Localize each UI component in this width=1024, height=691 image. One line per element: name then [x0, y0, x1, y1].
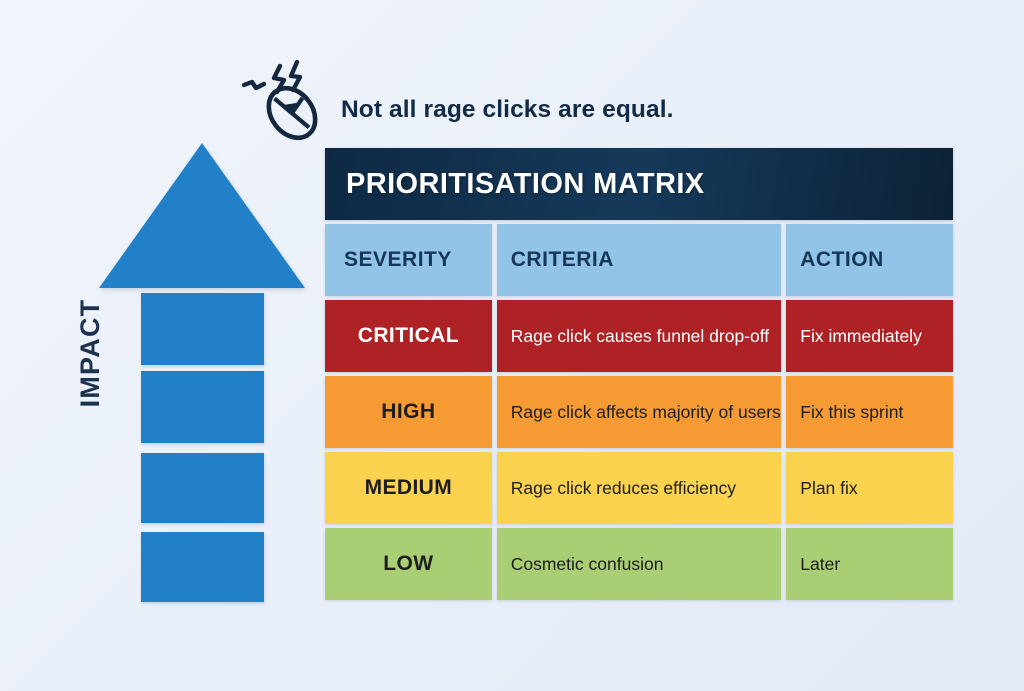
column-header-severity: SEVERITY [325, 224, 492, 296]
severity-label: MEDIUM [325, 452, 492, 524]
prioritisation-matrix: PRIORITISATION MATRIX SEVERITY CRITERIA … [325, 148, 953, 600]
action-text: Fix this sprint [786, 376, 953, 448]
criteria-text: Rage click reduces efficiency [497, 452, 782, 524]
infographic-canvas: Not all rage clicks are equal. IMPACT PR… [0, 0, 1024, 691]
table-row: MEDIUM Rage click reduces efficiency Pla… [325, 452, 953, 524]
rage-click-mouse-icon [236, 52, 336, 144]
impact-arrow-segment [141, 293, 264, 365]
impact-axis-label: IMPACT [75, 253, 106, 453]
criteria-text: Rage click causes funnel drop-off [497, 300, 782, 372]
impact-arrow-head [99, 143, 305, 288]
severity-label: LOW [325, 528, 492, 600]
severity-label: CRITICAL [325, 300, 492, 372]
criteria-text: Cosmetic confusion [497, 528, 782, 600]
column-header-action: ACTION [786, 224, 953, 296]
table-row: LOW Cosmetic confusion Later [325, 528, 953, 600]
matrix-header-row: SEVERITY CRITERIA ACTION [325, 224, 953, 296]
action-text: Fix immediately [786, 300, 953, 372]
severity-label: HIGH [325, 376, 492, 448]
impact-arrow-segment [141, 453, 264, 523]
criteria-text: Rage click affects majority of users [497, 376, 782, 448]
table-row: CRITICAL Rage click causes funnel drop-o… [325, 300, 953, 372]
action-text: Later [786, 528, 953, 600]
action-text: Plan fix [786, 452, 953, 524]
table-row: HIGH Rage click affects majority of user… [325, 376, 953, 448]
headline-text: Not all rage clicks are equal. [341, 96, 674, 124]
column-header-criteria: CRITERIA [497, 224, 782, 296]
impact-arrow-segment [141, 532, 264, 602]
matrix-title: PRIORITISATION MATRIX [325, 148, 953, 220]
impact-arrow-segment [141, 371, 264, 443]
